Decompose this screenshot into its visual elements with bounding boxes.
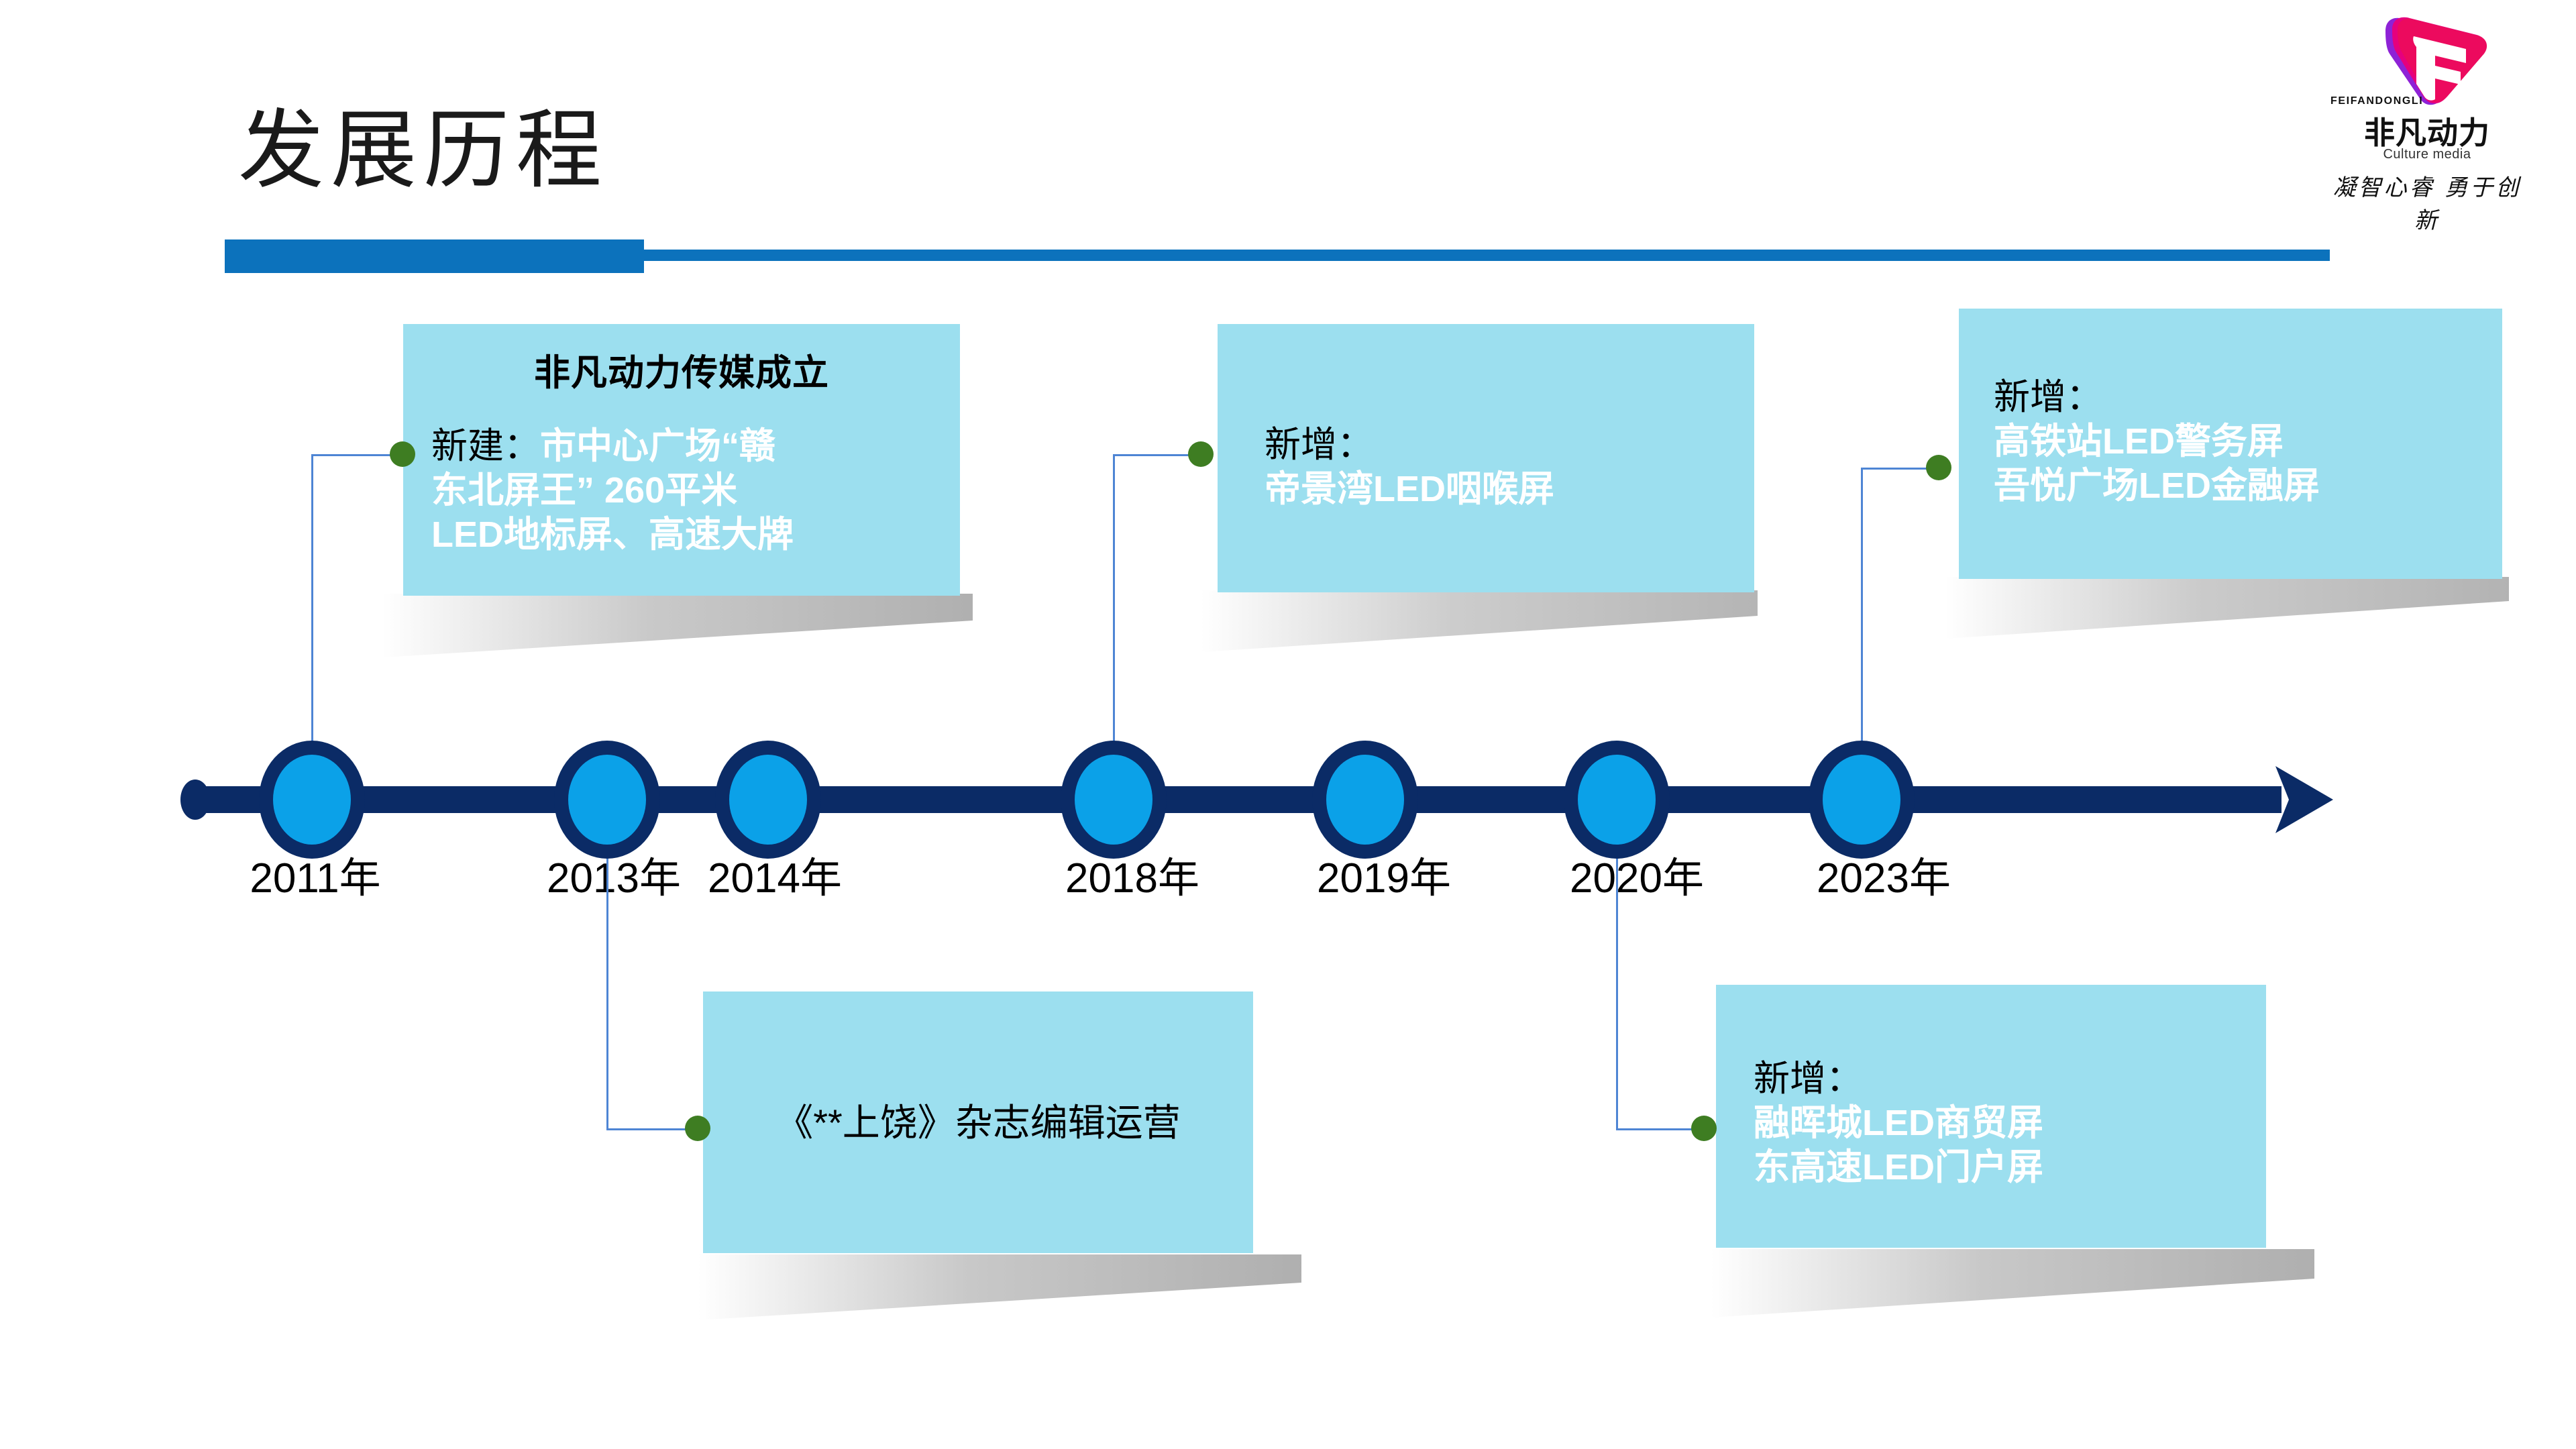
callout-2023-label: 新增： xyxy=(1994,377,2102,417)
year-label-2023: 2023年 xyxy=(1817,844,1951,904)
year-label-2018: 2018年 xyxy=(1065,844,1199,904)
callout-2011[interactable]: 非凡动力传媒成立 新建：市中心广场“赣 东北屏王” 260平米 LED地标屏、高… xyxy=(403,324,960,596)
slide-root: 发展历程 FEIFANDONGLI 非凡动力 Culture media 凝智心… xyxy=(0,0,2576,1449)
callout-2020-label: 新增： xyxy=(1754,1059,1862,1099)
connector-dot-2018 xyxy=(1188,441,1214,467)
callout-2023-line-1: 高铁站LED警务屏 xyxy=(1994,421,2284,462)
callout-shadow-2011 xyxy=(382,594,973,667)
callout-shadow-2013 xyxy=(698,1254,1301,1332)
callout-2011-line-3: LED地标屏、高速大牌 xyxy=(431,515,794,555)
year-label-2020: 2020年 xyxy=(1570,844,1704,904)
callout-shadow-2023 xyxy=(1945,577,2509,651)
callout-2013-line-1: 《**上饶》杂志编辑运营 xyxy=(703,1100,1253,1145)
callout-shadow-2018 xyxy=(1201,590,1758,664)
connector-2013-horizontal xyxy=(606,1128,698,1130)
connector-2011-horizontal xyxy=(311,454,402,456)
callout-2018-label: 新增： xyxy=(1265,425,1373,465)
callout-2020-line-1: 融晖城LED商贸屏 xyxy=(1754,1103,2043,1143)
callout-2013[interactable]: 《**上饶》杂志编辑运营 xyxy=(703,991,1253,1253)
f-triangle-logo-icon xyxy=(2365,13,2493,107)
timeline-node-2014[interactable] xyxy=(729,755,807,845)
connector-2018-vertical xyxy=(1113,454,1115,755)
connector-2020-vertical xyxy=(1616,844,1618,1130)
connector-dot-2011 xyxy=(390,441,415,467)
year-label-2013: 2013年 xyxy=(547,844,681,904)
logo-subtitle: Culture media xyxy=(2326,147,2528,162)
year-label-2014: 2014年 xyxy=(708,844,842,904)
timeline-node-2013[interactable] xyxy=(568,755,646,845)
timeline-node-2020[interactable] xyxy=(1578,755,1656,845)
title-underline-block xyxy=(225,239,644,273)
company-logo: FEIFANDONGLI 非凡动力 Culture media 凝智心睿 勇于创… xyxy=(2326,9,2528,231)
callout-2018[interactable]: 新增： 帝景湾LED咽喉屏 xyxy=(1218,324,1754,592)
callout-2023-line-2: 吾悦广场LED金融屏 xyxy=(1994,466,2320,506)
connector-dot-2013 xyxy=(685,1116,710,1141)
callout-2011-line-1: 市中心广场“赣 xyxy=(540,426,775,466)
callout-2020-line-2: 东高速LED门户屏 xyxy=(1754,1147,2043,1187)
logo-pinyin: FEIFANDONGLI xyxy=(2330,95,2458,107)
callout-2011-title: 非凡动力传媒成立 xyxy=(403,351,960,396)
axis-start-dot xyxy=(180,780,210,820)
connector-2023-vertical xyxy=(1861,468,1863,755)
callout-shadow-2020 xyxy=(1711,1249,2314,1330)
callout-2011-label: 新建： xyxy=(431,426,540,466)
title-underline-rule xyxy=(643,250,2330,261)
axis-line xyxy=(195,786,2282,813)
connector-2013-vertical xyxy=(606,844,608,1130)
callout-2023[interactable]: 新增： 高铁站LED警务屏 吾悦广场LED金融屏 xyxy=(1959,309,2502,579)
connector-dot-2023 xyxy=(1926,455,1951,480)
year-label-2011: 2011年 xyxy=(250,844,380,904)
timeline-node-2011[interactable] xyxy=(273,755,351,845)
timeline-node-2019[interactable] xyxy=(1326,755,1404,845)
connector-dot-2020 xyxy=(1691,1116,1717,1141)
callout-2018-line-1: 帝景湾LED咽喉屏 xyxy=(1265,469,1554,509)
callout-2011-line-2: 东北屏王” 260平米 xyxy=(431,470,737,511)
year-label-2019: 2019年 xyxy=(1317,844,1451,904)
timeline-node-2018[interactable] xyxy=(1075,755,1152,845)
timeline-node-2023[interactable] xyxy=(1823,755,1900,845)
axis-arrow-icon xyxy=(2275,766,2333,833)
callout-2020[interactable]: 新增： 融晖城LED商贸屏 东高速LED门户屏 xyxy=(1716,985,2266,1248)
connector-2011-vertical xyxy=(311,454,313,755)
logo-tagline: 凝智心睿 勇于创新 xyxy=(2326,169,2528,235)
page-title: 发展历程 xyxy=(238,104,608,199)
